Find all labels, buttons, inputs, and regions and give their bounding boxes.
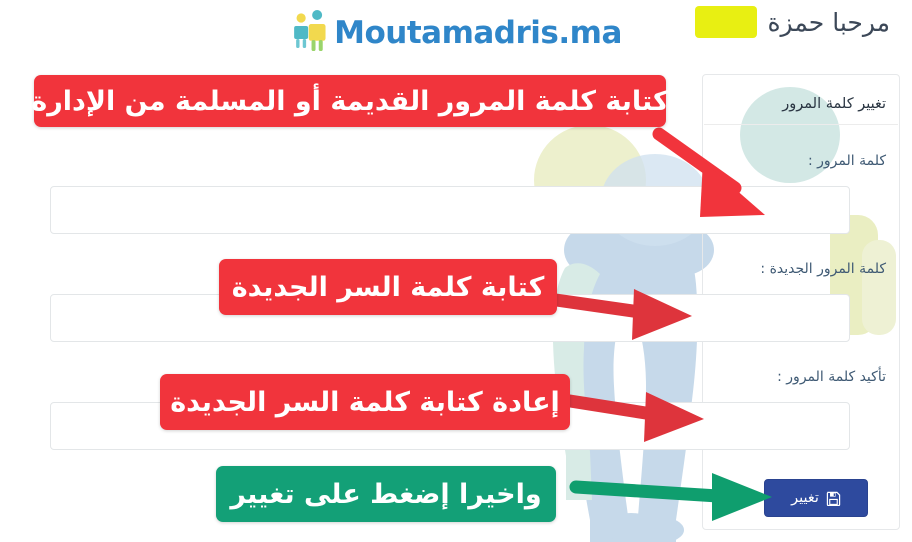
page-root: Moutamadris.ma مرحبا حمزة تغيير كلمة الم…	[0, 0, 912, 542]
page-header: Moutamadris.ma مرحبا حمزة	[0, 0, 912, 62]
annotation-callout-4: واخيرا إضغط على تغيير	[216, 466, 556, 522]
annotation-callout-3: إعادة كتابة كلمة السر الجديدة	[160, 374, 570, 430]
new-password-label: كلمة المرور الجديدة :	[760, 261, 886, 277]
password-field[interactable]	[50, 186, 850, 234]
annotation-callout-1: كتابة كلمة المرور القديمة أو المسلمة من …	[34, 75, 666, 127]
site-logo[interactable]: Moutamadris.ma	[290, 8, 622, 52]
card-title-divider	[704, 124, 898, 125]
two-people-figures-icon	[290, 8, 332, 54]
submit-button-label: تغيير	[791, 490, 819, 506]
annotation-callout-2: كتابة كلمة السر الجديدة	[219, 259, 557, 315]
welcome-message: مرحبا حمزة	[695, 6, 890, 38]
art-blue-figure	[564, 222, 714, 542]
password-label: كلمة المرور :	[808, 153, 886, 169]
welcome-text: مرحبا حمزة	[767, 10, 890, 35]
save-floppy-disk-icon	[826, 491, 841, 506]
submit-button[interactable]: تغيير	[764, 479, 868, 517]
username-highlight-badge	[695, 6, 757, 38]
logo-text: Moutamadris.ma	[334, 18, 622, 52]
page-title: تغيير كلمة المرور	[782, 96, 886, 112]
confirm-password-label: تأكيد كلمة المرور :	[777, 369, 886, 385]
